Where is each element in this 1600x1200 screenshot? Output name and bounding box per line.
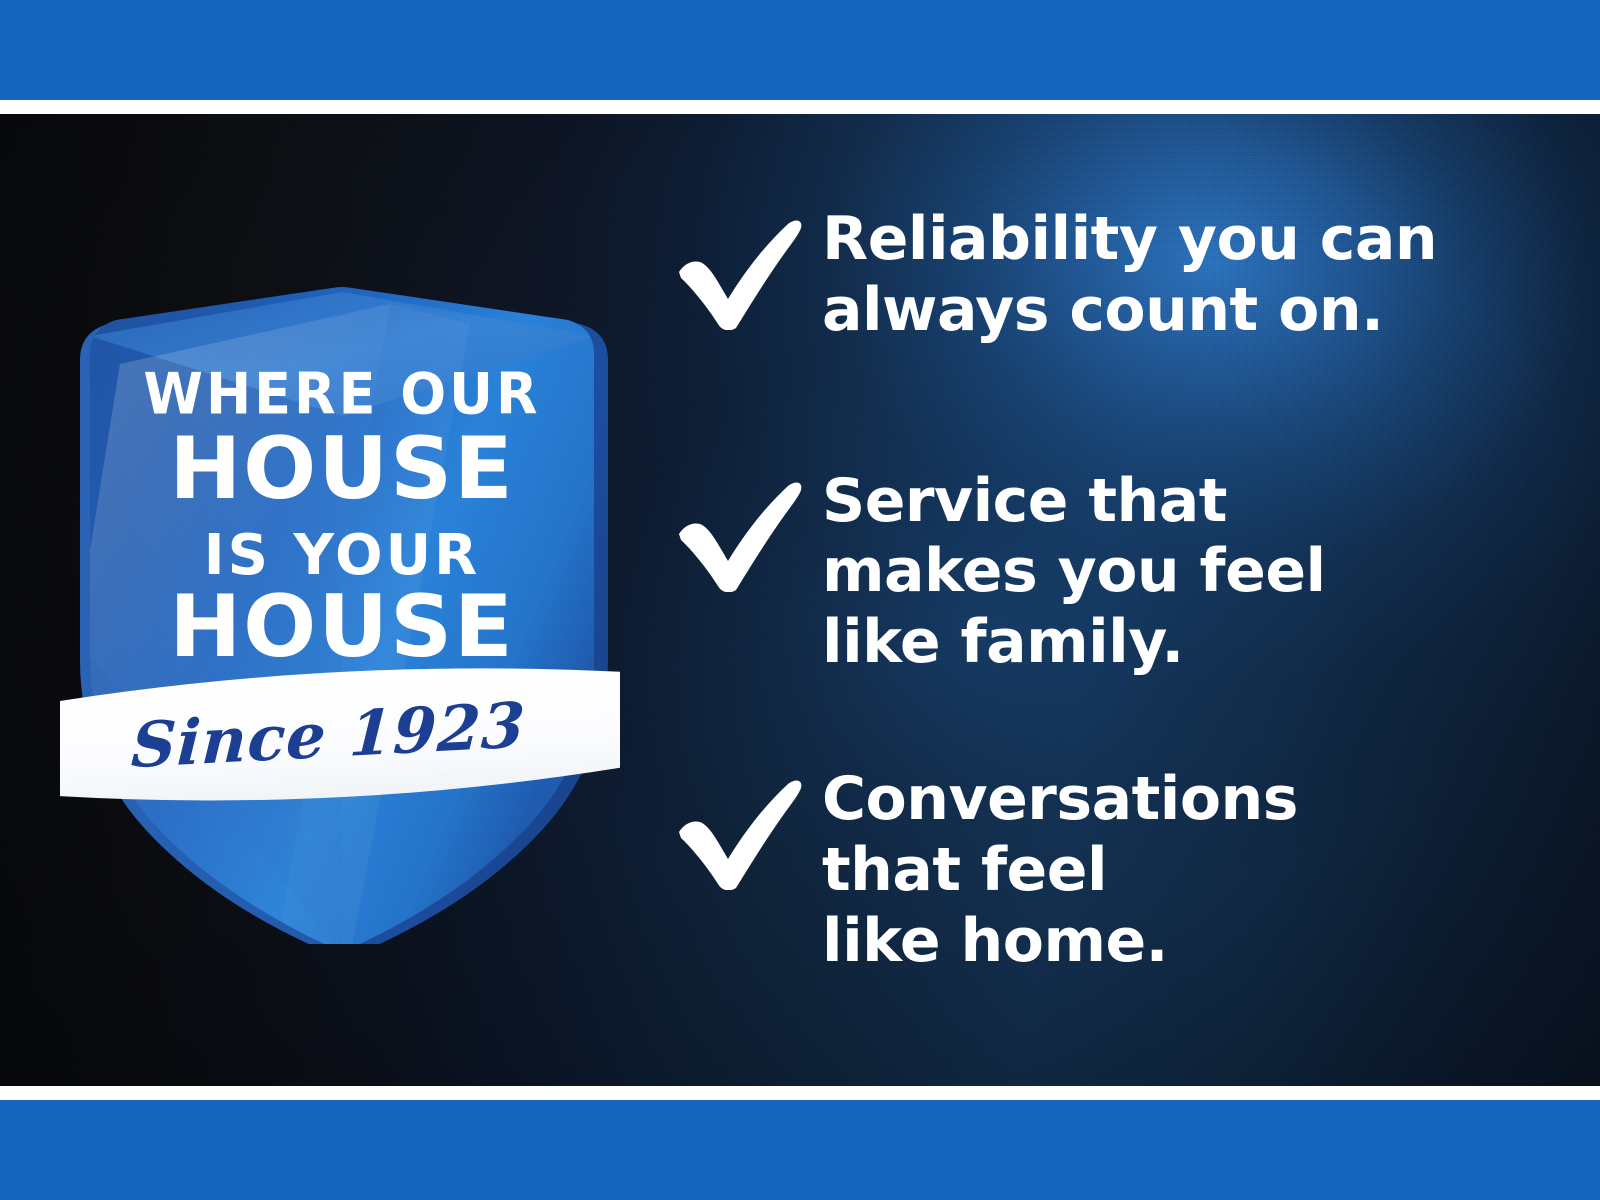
shield-logo-svg: WHERE OUR HOUSE IS YOUR HOUSE Since 1923 (60, 284, 620, 944)
list-item: Service that makes you feel like family. (672, 466, 1552, 678)
bottom-brand-bar (0, 1100, 1600, 1200)
logo-line-4: HOUSE (169, 577, 515, 677)
top-brand-bar (0, 0, 1600, 100)
logo-line-2: HOUSE (169, 419, 515, 519)
bottom-white-divider (0, 1086, 1600, 1100)
brand-logo: WHERE OUR HOUSE IS YOUR HOUSE Since 1923 (60, 284, 620, 944)
list-item: Reliability you can always count on. (672, 204, 1552, 346)
list-item: Conversations that feel like home. (672, 764, 1552, 976)
benefits-list: Reliability you can always count on. Ser… (672, 204, 1552, 976)
checkmark-icon (672, 466, 822, 592)
list-item-label: Reliability you can always count on. (822, 204, 1552, 346)
list-item-label: Conversations that feel like home. (822, 764, 1552, 976)
main-stage: WHERE OUR HOUSE IS YOUR HOUSE Since 1923 (0, 114, 1600, 1086)
promo-graphic: WHERE OUR HOUSE IS YOUR HOUSE Since 1923 (0, 0, 1600, 1200)
checkmark-icon (672, 764, 822, 890)
list-item-label: Service that makes you feel like family. (822, 466, 1552, 678)
checkmark-icon (672, 204, 822, 330)
top-white-divider (0, 100, 1600, 114)
logo-line-1: WHERE OUR (143, 361, 540, 428)
shield-headline: WHERE OUR HOUSE IS YOUR HOUSE (143, 361, 540, 677)
